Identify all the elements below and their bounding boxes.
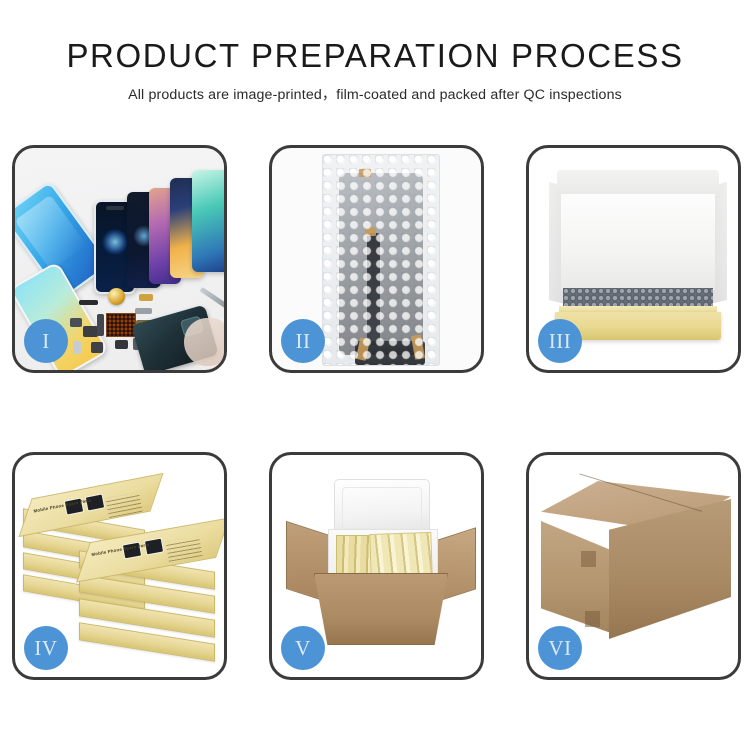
step-badge: I	[24, 319, 68, 363]
packed-boxes-icon	[369, 532, 432, 578]
flex-cable-icon	[367, 233, 380, 345]
step-badge: III	[538, 319, 582, 363]
carton-body	[314, 573, 448, 645]
process-step-panel-1: I	[12, 145, 227, 373]
part-strip-icon	[135, 308, 152, 314]
foam-liner-icon	[561, 194, 715, 290]
step-badge: II	[281, 319, 325, 363]
tape-patch-icon	[585, 611, 600, 627]
chip-array-icon	[106, 313, 136, 337]
flex-cable-icon	[97, 314, 104, 336]
tape-icon	[365, 227, 376, 236]
bubble-wrap-bag-icon	[322, 154, 440, 366]
product-preparation-infographic: PRODUCT PREPARATION PROCESS All products…	[0, 0, 750, 750]
open-yellow-box-icon	[547, 170, 729, 338]
page-title: PRODUCT PREPARATION PROCESS	[0, 38, 750, 74]
part-strip-icon	[73, 341, 81, 354]
process-step-panel-4: Mobile Phone Spare Parts Mobile Phone Sp…	[12, 452, 227, 680]
process-step-panel-3: III	[526, 145, 741, 373]
part-strip-icon	[91, 342, 103, 353]
part-strip-icon	[70, 318, 82, 327]
screen-assembly-icon	[339, 173, 423, 355]
process-step-panel-5: V	[269, 452, 484, 680]
page-subtitle: All products are image-printed，film-coat…	[0, 84, 750, 104]
hand-icon	[184, 318, 224, 366]
step-badge: IV	[24, 626, 68, 670]
tape-patch-icon	[581, 551, 596, 567]
part-strip-icon	[139, 294, 153, 301]
carton-left-face	[541, 521, 611, 633]
step-badge: VI	[538, 626, 582, 670]
part-strip-icon	[83, 326, 98, 337]
process-step-panel-6: VI	[526, 452, 741, 680]
header: PRODUCT PREPARATION PROCESS All products…	[0, 38, 750, 104]
part-strip-icon	[79, 300, 98, 305]
speaker-module-icon	[108, 288, 125, 305]
part-strip-icon	[115, 340, 128, 349]
tape-icon	[359, 169, 371, 177]
sealed-carton-icon	[541, 481, 731, 651]
step-badge: V	[281, 626, 325, 670]
phone-screen-teal-icon	[192, 170, 224, 272]
process-step-grid: I II	[12, 145, 742, 680]
process-step-panel-2: II	[269, 145, 484, 373]
